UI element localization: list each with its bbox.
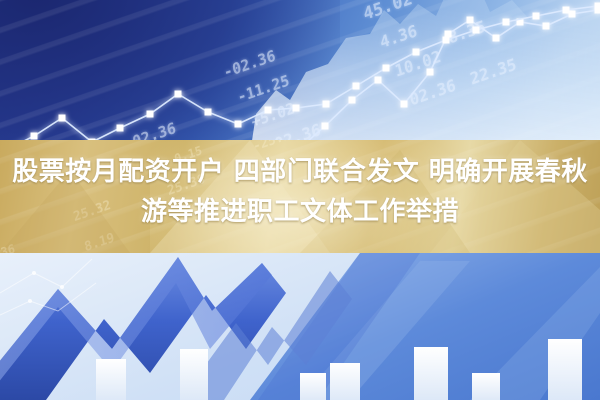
chart-marker: [533, 13, 540, 20]
chart-marker: [569, 11, 576, 18]
chart-marker: [467, 17, 474, 24]
chart-marker: [323, 101, 330, 108]
chart-marker: [473, 27, 480, 34]
chart-marker: [375, 77, 382, 84]
chart-marker: [493, 35, 500, 42]
bottom-chart-background: [0, 253, 600, 400]
news-banner: -02.36-11.25-50.02-02.36-50.022.361.254.…: [0, 0, 600, 400]
chart-marker: [353, 83, 360, 90]
chart-marker: [322, 123, 329, 130]
chart-marker: [543, 23, 550, 30]
chart-marker: [383, 65, 390, 72]
headline-line-2: 游等推进职工文体工作举措: [0, 192, 600, 232]
chart-line: [6, 6, 598, 150]
headline-line-1: 股票按月配资开户 四部门联合发文 明确开展春秋: [0, 152, 600, 192]
chart-marker: [413, 49, 420, 56]
chart-marker: [31, 133, 38, 140]
chart-marker: [427, 69, 434, 76]
bottom-graphics: [0, 253, 600, 400]
chart-bar: [300, 373, 326, 400]
chart-marker: [175, 91, 182, 98]
headline-block: 股票按月配资开户 四部门联合发文 明确开展春秋 游等推进职工文体工作举措: [0, 152, 600, 232]
chart-bar: [548, 339, 582, 400]
chart-bar: [96, 359, 126, 400]
chart-marker: [235, 121, 242, 128]
chart-marker: [563, 7, 570, 14]
chart-bar: [414, 347, 448, 400]
chart-marker: [265, 107, 272, 114]
chart-marker: [147, 111, 154, 118]
line-chart-overlay: [0, 0, 600, 150]
top-blue-background: -02.36-11.25-50.02-02.36-50.022.361.254.…: [0, 0, 600, 150]
chart-marker: [293, 105, 300, 112]
chart-marker: [401, 101, 408, 108]
chart-marker: [349, 97, 356, 104]
chart-marker: [595, 3, 600, 10]
chart-bar: [472, 373, 500, 400]
chart-marker: [205, 109, 212, 116]
chart-marker: [59, 115, 66, 122]
chart-marker: [117, 125, 124, 132]
chart-marker: [443, 37, 450, 44]
chart-bar: [330, 363, 360, 400]
chart-bar: [180, 349, 208, 400]
chart-marker: [445, 31, 452, 38]
chart-marker: [503, 19, 510, 26]
